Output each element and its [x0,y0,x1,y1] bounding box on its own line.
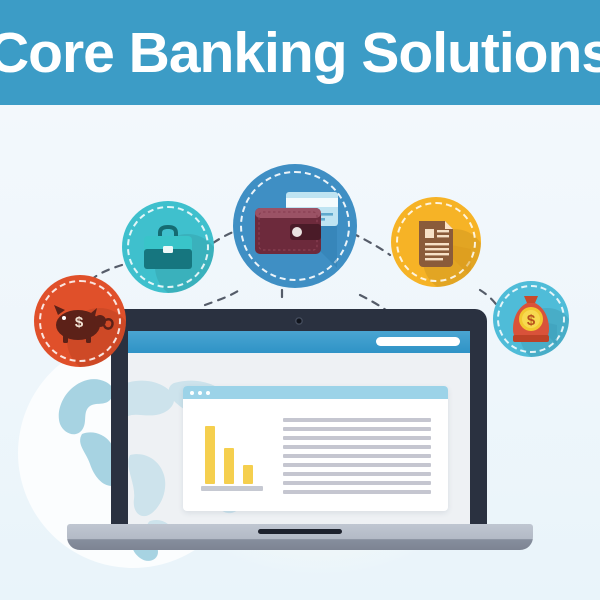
money-bag-icon: $ [493,281,569,357]
page-title: Core Banking Solutions [0,20,600,86]
text-line [283,445,431,449]
text-line [283,454,431,458]
node-wallet-credit-card[interactable] [233,164,357,288]
wallet-icon [233,164,357,288]
document-icon [391,197,481,287]
node-briefcase[interactable] [122,201,214,293]
webcam-icon [295,317,303,325]
bar-chart [199,414,267,494]
laptop-screen [128,331,470,534]
text-line [283,472,431,476]
svg-text:$: $ [527,312,536,329]
svg-text:$: $ [75,314,84,331]
browser-titlebar [183,386,448,399]
window-maximize-dot-icon[interactable] [206,391,210,395]
text-line [283,490,431,494]
text-line-block [283,418,431,499]
chart-bar [205,426,215,484]
text-line [283,481,431,485]
chart-bar [224,448,234,484]
node-document[interactable] [391,197,481,287]
text-line [283,463,431,467]
connector-wallet-to-document [352,233,390,255]
briefcase-icon [122,201,214,293]
laptop-lid [111,309,487,542]
browser-window-card [183,386,448,511]
header-band: Core Banking Solutions [0,0,600,105]
text-line [283,418,431,422]
text-line [283,436,431,440]
piggy-bank-icon: $ [34,275,126,367]
chart-baseline [201,486,263,491]
screen-topbar [128,331,470,353]
node-piggy-bank[interactable]: $ [34,275,126,367]
window-minimize-dot-icon[interactable] [198,391,202,395]
search-bar-pill[interactable] [376,337,460,346]
connector-wallet-to-laptop-left [205,291,238,305]
node-money-bag[interactable]: $ [493,281,569,357]
window-close-dot-icon[interactable] [190,391,194,395]
text-line [283,427,431,431]
chart-bar [243,465,253,484]
wallet-body [255,208,321,254]
laptop-hinge-notch [258,529,342,534]
illustration-canvas: $ [0,0,600,600]
laptop-base [67,524,533,550]
